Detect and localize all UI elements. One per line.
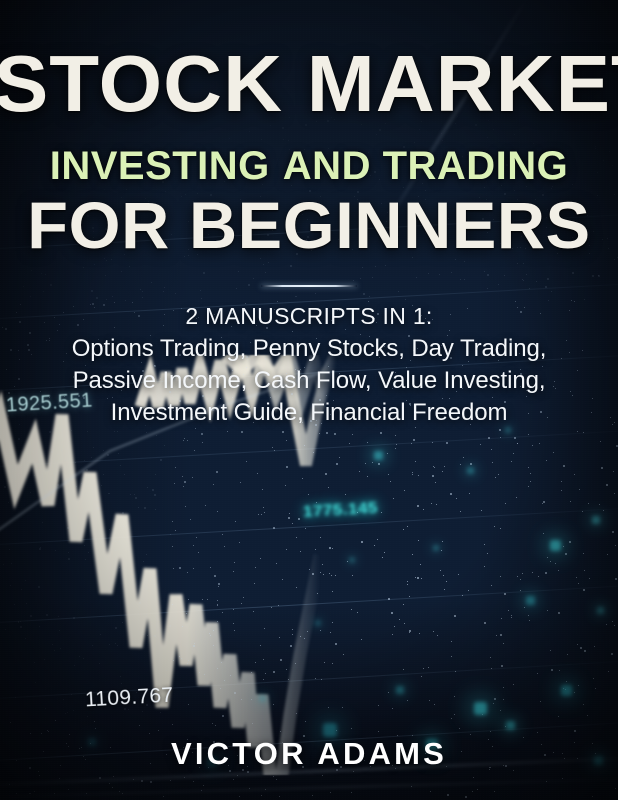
subtitle-lead: 2 MANUSCRIPTS IN 1: [0,302,618,331]
cover-title-line-3: FOR BEGINNERS [0,192,618,258]
subtitle-line-3: Investment Guide, Financial Freedom [0,397,618,429]
cover-title-line-2: INVESTINGAND TRADING [0,146,618,186]
author-name: VICTOR ADAMS [0,736,618,772]
cover-subtitle-block: 2 MANUSCRIPTS IN 1: Options Trading, Pen… [0,302,618,428]
cover-title-line-1: STOCK MARKET [0,46,618,123]
subtitle-line-2: Passive Income, Cash Flow, Value Investi… [0,365,618,397]
cover-title-line-2-part-b: AND TRADING [283,144,568,188]
title-divider-rule [261,285,357,287]
cover-title-line-2-part-a: INVESTING [50,144,270,188]
cover-text-block: STOCK MARKET INVESTINGAND TRADING FOR BE… [0,0,618,800]
subtitle-line-1: Options Trading, Penny Stocks, Day Tradi… [0,333,618,365]
book-cover: 1925.551 1775.145 1109.767 STOCK MARKET … [0,0,618,800]
